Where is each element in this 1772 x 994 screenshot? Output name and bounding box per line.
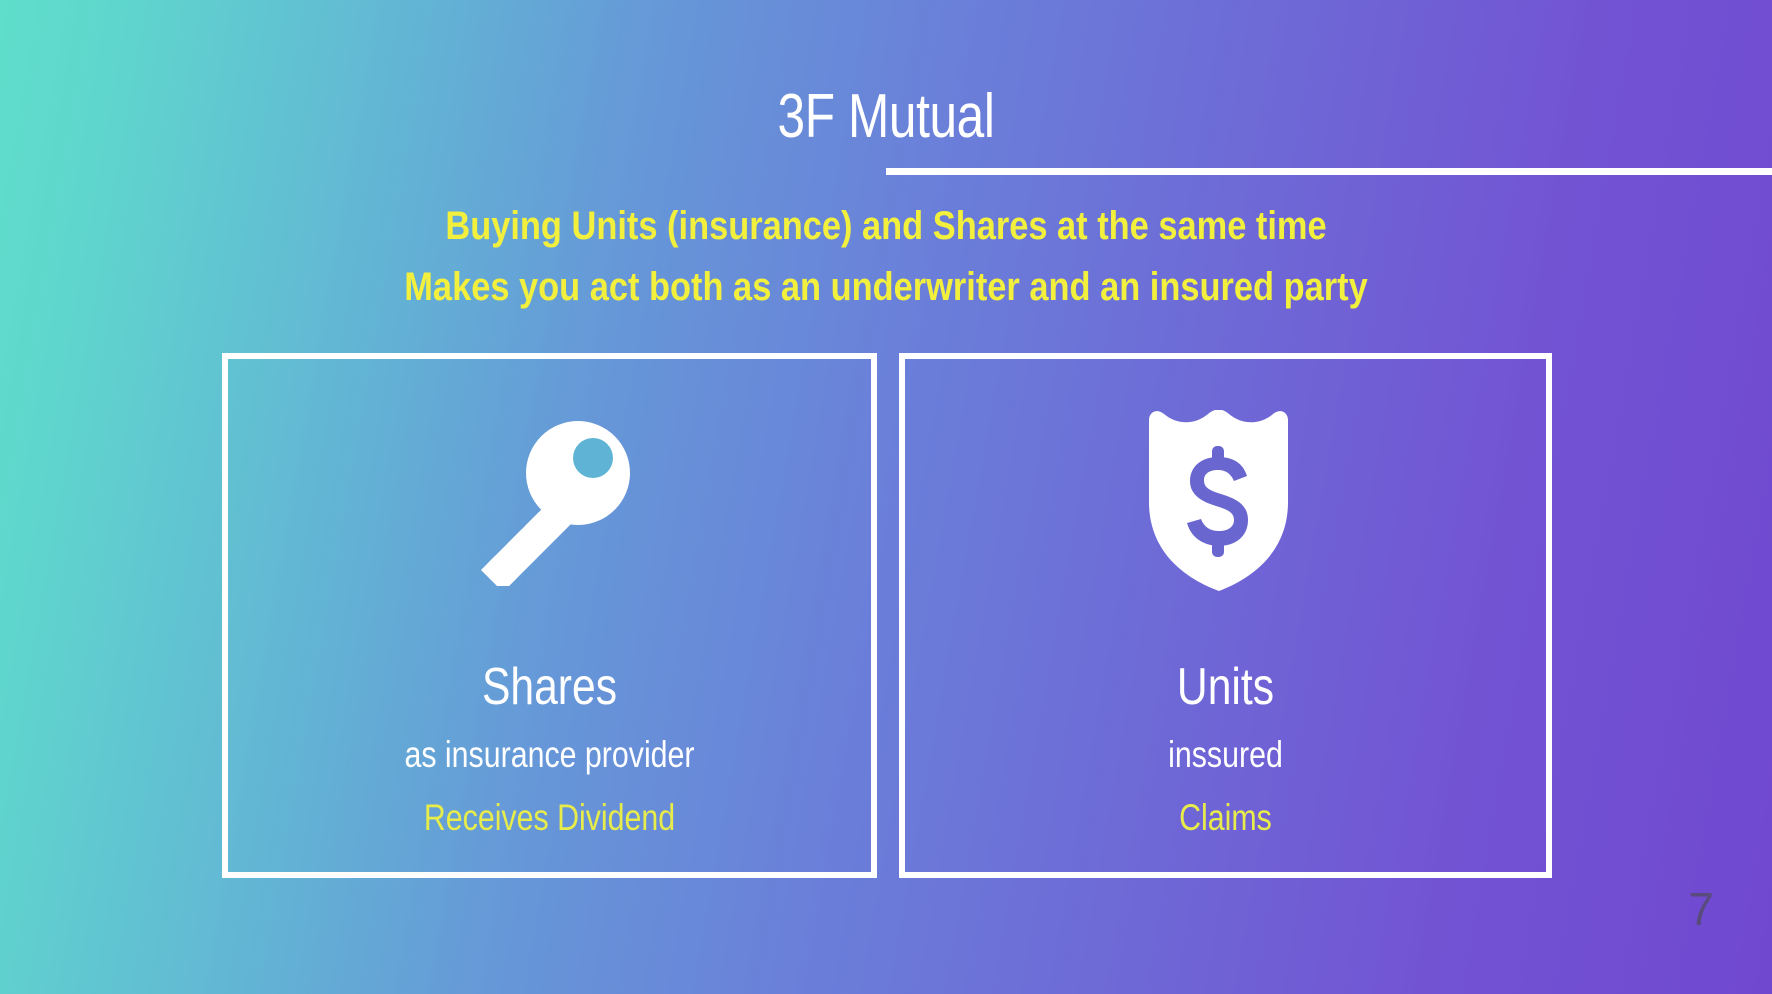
card-units-title: Units: [963, 659, 1489, 715]
card-units[interactable]: Units inssured Claims: [899, 353, 1552, 878]
card-shares[interactable]: Shares as insurance provider Receives Di…: [222, 353, 877, 878]
card-units-subtitle: inssured: [963, 734, 1489, 776]
card-units-accent: Claims: [963, 797, 1489, 839]
subtitle-line-2: Makes you act both as an underwriter and…: [124, 257, 1648, 318]
slide-canvas: 3F Mutual Buying Units (insurance) and S…: [0, 0, 1772, 994]
card-shares-subtitle: as insurance provider: [286, 734, 813, 776]
page-title: 3F Mutual: [177, 84, 1595, 150]
card-shares-title: Shares: [286, 659, 813, 715]
subtitle-line-1: Buying Units (insurance) and Shares at t…: [124, 196, 1648, 257]
key-icon: [228, 381, 871, 621]
title-underline-rule: [886, 168, 1772, 175]
page-number: 7: [1688, 886, 1714, 932]
subtitle-block: Buying Units (insurance) and Shares at t…: [124, 196, 1648, 318]
card-shares-accent: Receives Dividend: [286, 797, 813, 839]
shield-dollar-icon: [905, 381, 1546, 621]
